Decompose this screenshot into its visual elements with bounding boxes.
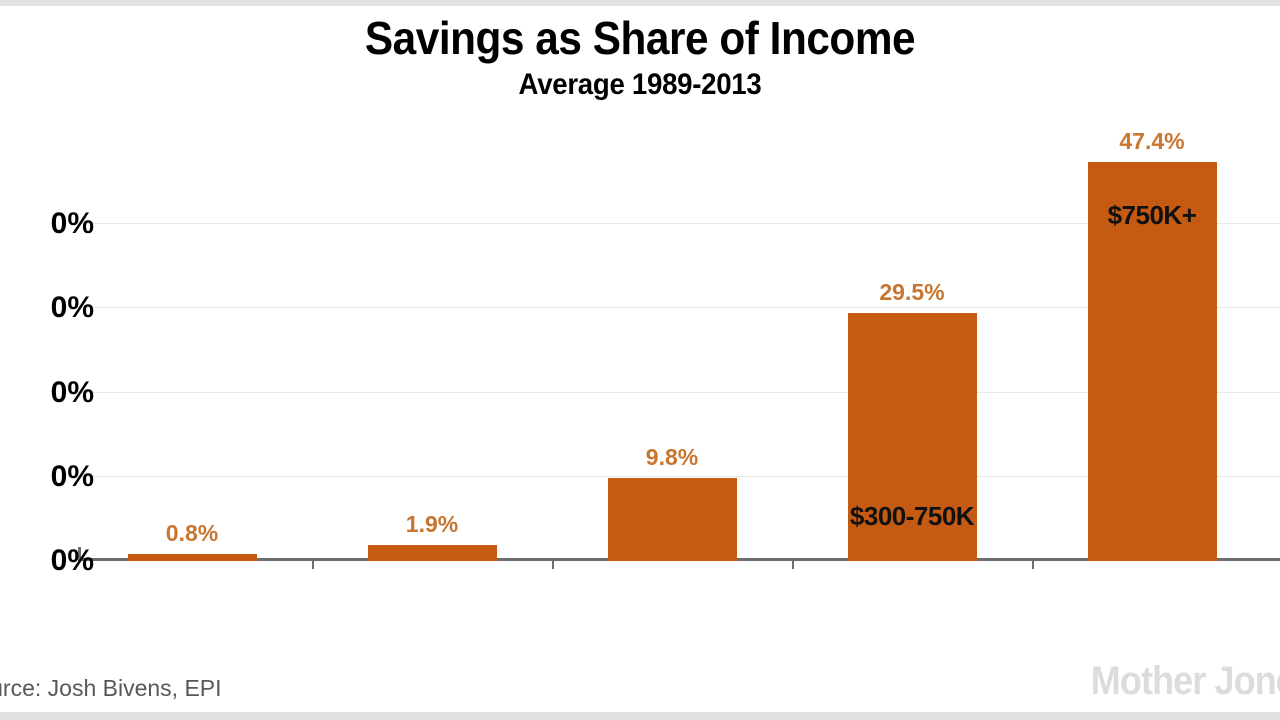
y-axis-tick-label: 0% [0, 207, 68, 241]
x-axis-category-label: $300-750K [850, 501, 974, 532]
bar[interactable]: 1.9%$150-200K [368, 545, 497, 561]
y-axis-tick-label-text: 0% [51, 376, 94, 409]
y-axis-tick-label-text: 0% [51, 291, 94, 324]
chart-subtitle: Average 1989-2013 [51, 68, 1229, 102]
bar-value-label: 9.8% [646, 444, 698, 471]
bottom-chrome-band [0, 712, 1280, 720]
x-axis-category-label: $750K+ [1108, 200, 1197, 231]
y-axis-tick-label-text: 0% [51, 460, 94, 493]
y-axis-tick-label-text: 0% [51, 207, 94, 240]
x-axis-tick [792, 559, 794, 569]
title-block: Savings as Share of Income Average 1989-… [0, 14, 1280, 102]
chart-title: Savings as Share of Income [51, 14, 1229, 62]
bar[interactable]: 9.8%$200-300K [608, 478, 737, 561]
x-axis-tick [552, 559, 554, 569]
bar-value-label: 29.5% [879, 279, 944, 306]
bar-value-label: 1.9% [406, 511, 458, 538]
bar[interactable]: 47.4%$750K+ [1088, 162, 1217, 561]
bar-value-label: 0.8% [166, 520, 218, 547]
plot-area: 0.8%0-$150K1.9%$150-200K9.8%$200-300K29.… [78, 140, 1280, 561]
y-axis-tick-label: 0% [0, 376, 68, 410]
y-axis-tick-label-text: 0% [51, 544, 94, 577]
y-axis-tick-label: 0% [0, 291, 68, 325]
chart-screenshot: Savings as Share of Income Average 1989-… [0, 0, 1280, 720]
bar[interactable]: 29.5%$300-750K [848, 313, 977, 561]
x-axis-tick [312, 559, 314, 569]
x-axis-tick [1032, 559, 1034, 569]
y-axis-tick-label: 0% [0, 544, 68, 578]
bar-value-label: 47.4% [1119, 128, 1184, 155]
source-note: Source: Josh Bivens, EPI [0, 675, 222, 702]
publisher-watermark: Mother Jones [1091, 659, 1280, 704]
y-axis-tick-label: 0% [0, 460, 68, 494]
top-chrome-band [0, 0, 1280, 6]
bar[interactable]: 0.8%0-$150K [128, 554, 257, 561]
